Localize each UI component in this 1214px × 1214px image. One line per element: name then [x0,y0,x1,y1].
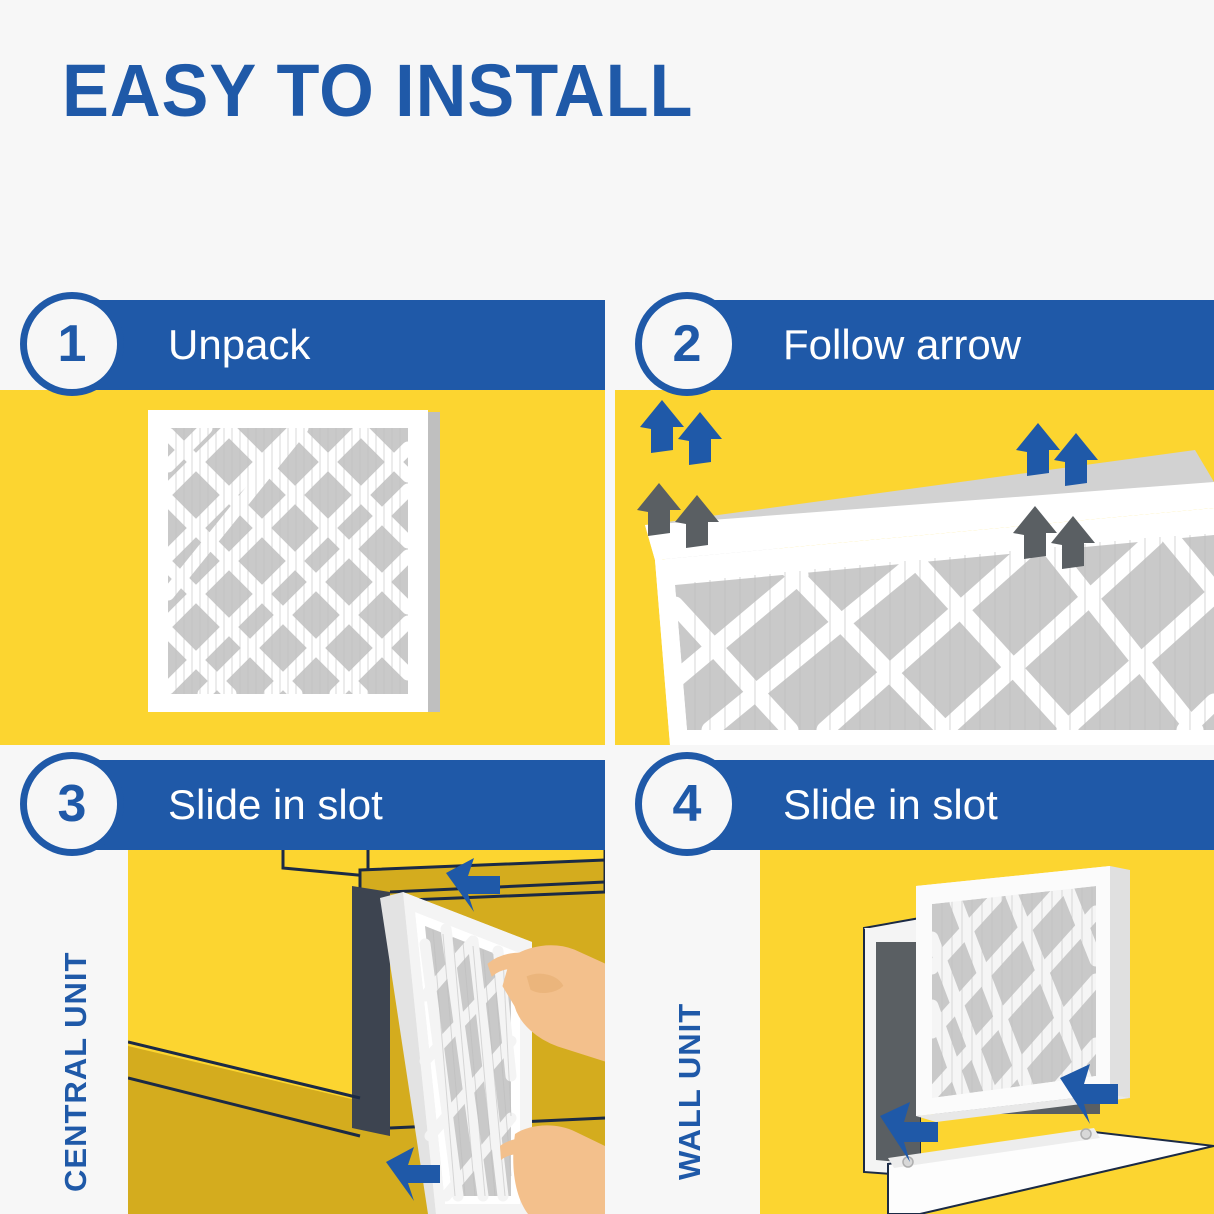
step-1-header-bar [52,300,605,390]
wall-unit-filter-install-illustration [760,846,1214,1214]
step-1-label: Unpack [168,300,310,390]
step-3-number-badge: 3 [20,752,124,856]
step-2-number-badge: 2 [635,292,739,396]
step-1-panel-background [0,390,605,745]
central-unit-filter-install-illustration [128,846,605,1214]
infographic-canvas: EASY TO INSTALL [0,0,1214,1214]
step-4-panel-background [760,846,1214,1214]
step-2-panel-background [615,390,1214,745]
page-title: EASY TO INSTALL [62,54,693,128]
step-4-label: Slide in slot [783,760,998,850]
step-4-number-badge: 4 [635,752,739,856]
step-1-number-badge: 1 [20,292,124,396]
step-2-label: Follow arrow [783,300,1021,390]
wall-unit-label: WALL UNIT [672,1003,708,1180]
blue-airflow-arrow-icon [640,400,722,465]
central-unit-label: CENTRAL UNIT [58,952,94,1192]
step-3-panel-background [128,846,605,1214]
air-filter-airflow-illustration [615,390,1214,745]
air-filter-front-illustration [0,390,605,745]
step-3-label: Slide in slot [168,760,383,850]
